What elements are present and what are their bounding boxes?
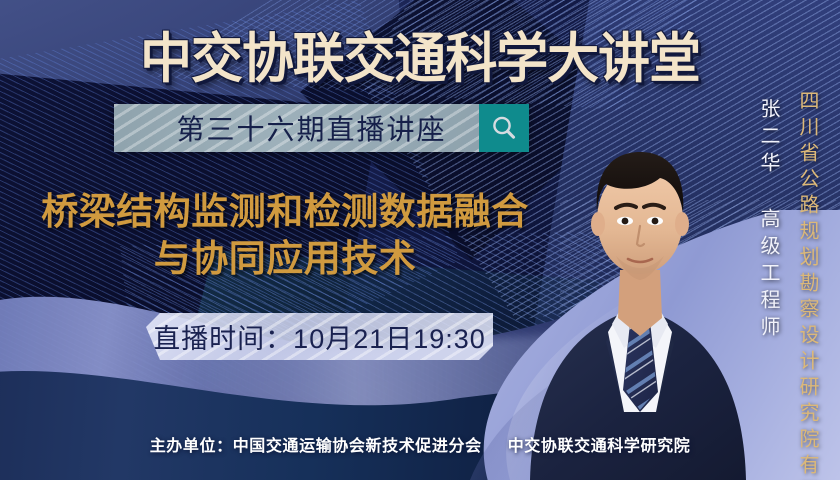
live-lecture-poster: 中交协联交通科学大讲堂 第三十六期直播讲座 桥梁结构监测和检测数据融合 与协同应… [0,0,840,480]
speaker-portrait [520,80,750,480]
page-title: 中交协联交通科学大讲堂 [17,14,823,93]
speaker-organization: 四川省公路规划勘察设计研究院有限公司 [793,90,822,480]
broadcast-time-banner: 直播时间：10月21日19:30 [146,313,493,360]
speaker-name-and-title: 张二华 高级工程师 [754,98,783,343]
broadcast-time-text: 直播时间：10月21日19:30 [153,317,486,356]
series-banner-fill: 第三十六期直播讲座 [114,104,479,152]
search-icon-box[interactable] [479,104,529,152]
series-label: 第三十六期直播讲座 [146,108,446,148]
lecture-title: 桥梁结构监测和检测数据融合 与协同应用技术 [20,188,550,283]
series-banner: 第三十六期直播讲座 [114,104,529,152]
organizer-primary: 主办单位：中国交通运输协会新技术促进分会 [150,438,482,455]
organizer-secondary: 中交协联交通科学研究院 [508,438,691,455]
search-icon [489,113,519,143]
lecture-title-line-1: 桥梁结构监测和检测数据融合 [20,188,550,235]
organizer-footer: 主办单位：中国交通运输协会新技术促进分会中交协联交通科学研究院 [0,432,840,456]
lecture-title-line-2: 与协同应用技术 [20,235,550,282]
